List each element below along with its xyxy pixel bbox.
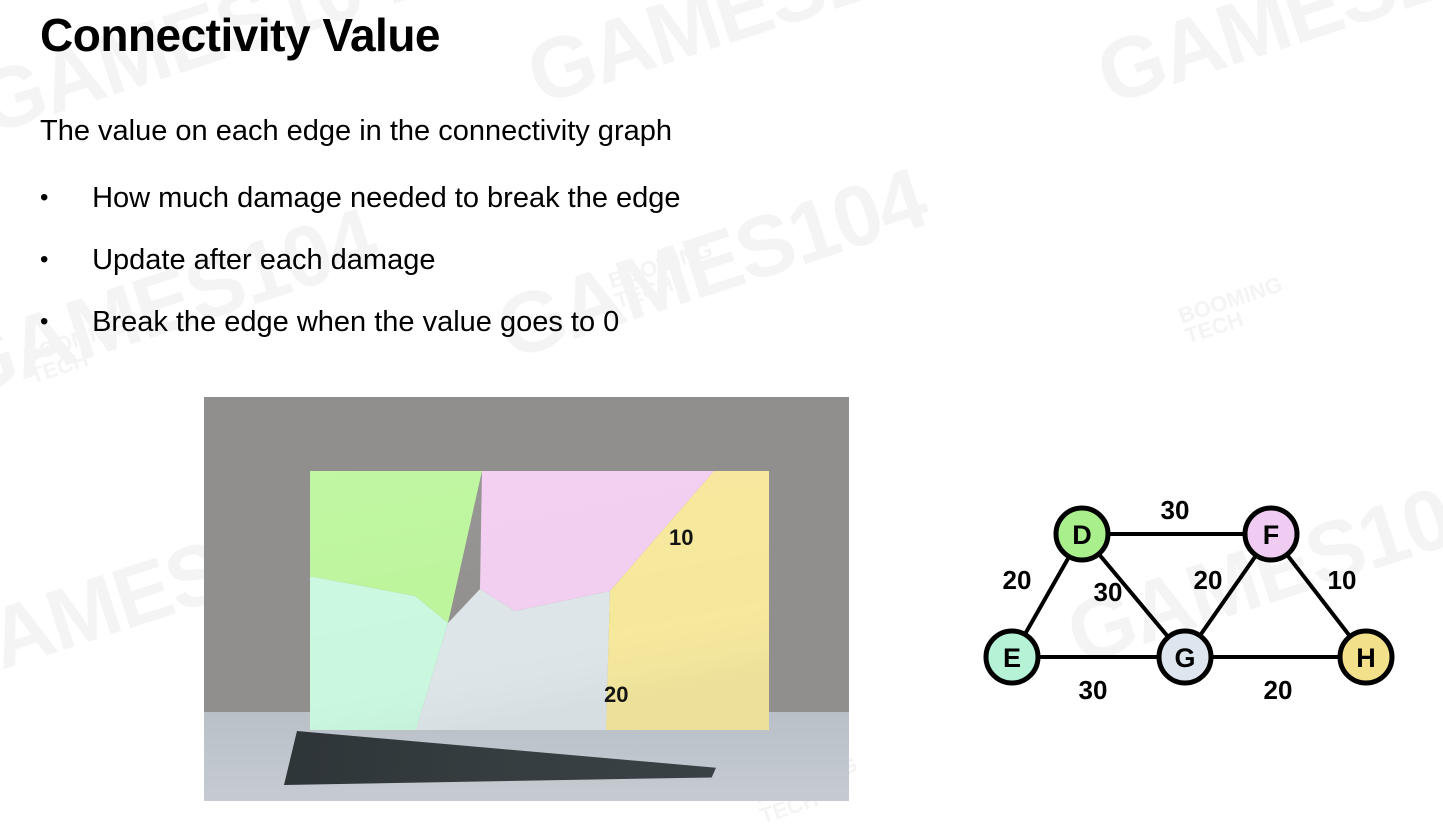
graph-node-label-E: E (1003, 643, 1021, 673)
list-item: • Break the edge when the value goes to … (40, 302, 681, 364)
render-value-label-10: 10 (669, 525, 693, 551)
graph-node-label-F: F (1263, 520, 1280, 550)
watermark-brand: GAMES104 (1086, 0, 1443, 125)
watermark-brand: GAMES104 (516, 0, 968, 125)
graph-node-label-G: G (1174, 643, 1195, 673)
watermark-company-line2: TECH (1183, 294, 1292, 347)
list-item: • Update after each damage (40, 240, 681, 302)
bullet-dot-icon: • (40, 240, 84, 280)
graph-node-label-D: D (1072, 520, 1092, 550)
graph-edge-label-E-G: 30 (1079, 675, 1108, 705)
list-item: • How much damage needed to break the ed… (40, 178, 681, 240)
connectivity-graph-diagram: D F E G H 30 20 30 20 10 30 20 (960, 480, 1400, 710)
fractured-wall-render: 10 20 (204, 397, 849, 801)
page-title: Connectivity Value (40, 8, 440, 62)
render-light-falloff (310, 471, 769, 730)
graph-edge-label-D-G: 30 (1094, 577, 1123, 607)
graph-edge-label-F-H: 10 (1328, 565, 1357, 595)
bullet-list: • How much damage needed to break the ed… (40, 178, 681, 364)
graph-edge-label-D-E: 20 (1003, 565, 1032, 595)
graph-edge-label-D-F: 30 (1161, 495, 1190, 525)
graph-edge-label-G-H: 20 (1264, 675, 1293, 705)
watermark-company: BOOMING TECH (1176, 274, 1291, 347)
list-item-label: Update after each damage (92, 240, 435, 280)
bullet-dot-icon: • (40, 178, 84, 218)
watermark-company-line1: BOOMING (1176, 274, 1285, 327)
list-item-label: How much damage needed to break the edge (92, 178, 680, 218)
graph-node-label-H: H (1356, 643, 1376, 673)
graph-edge-label-F-G: 20 (1194, 565, 1223, 595)
render-value-label-20: 20 (604, 682, 628, 708)
list-item-label: Break the edge when the value goes to 0 (92, 302, 619, 342)
intro-paragraph: The value on each edge in the connectivi… (40, 115, 672, 148)
render-wall-fragments (310, 471, 769, 730)
bullet-dot-icon: • (40, 302, 84, 342)
